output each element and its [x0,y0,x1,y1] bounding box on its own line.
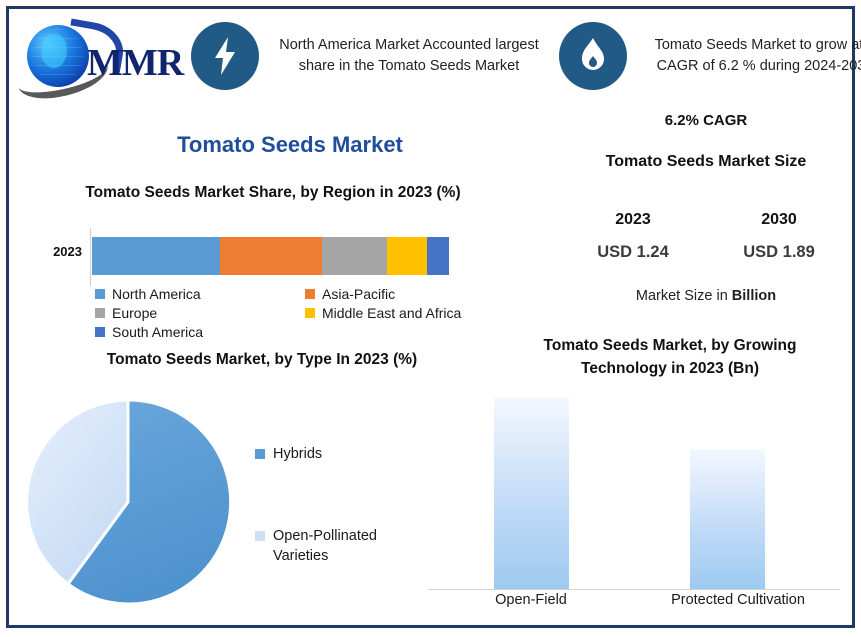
legend-label: Asia-Pacific [322,286,395,302]
legend-label: Hybrids [273,444,322,464]
legend-swatch-icon [95,308,105,318]
type-legend: Hybrids Open-Pollinated Varieties [255,444,430,566]
technology-chart-title: Tomato Seeds Market, by Growing Technolo… [500,334,840,380]
bar-open-field [494,398,569,589]
legend-swatch-icon [95,327,105,337]
technology-plot-area [428,388,840,590]
stack-segment-north-america [92,237,220,275]
lightning-bolt-icon [191,22,259,90]
market-size-footnote: Market Size in Billion [560,288,852,304]
axis-label-open-field: Open-Field [446,592,616,608]
bar-protected-cultivation [690,449,765,589]
market-size-col-2023: 2023 USD 1.24 [560,211,706,262]
cagr-badge: 6.2% CAGR [560,112,852,129]
market-size-col-2030: 2030 USD 1.89 [706,211,852,262]
stack-segment-europe [322,237,387,275]
legend-label: Middle East and Africa [322,305,461,321]
brand-logo[interactable]: MMR [10,10,185,102]
type-share-chart [22,396,234,618]
legend-item-middle-east-africa: Middle East and Africa [305,303,515,322]
legend-swatch-icon [305,308,315,318]
stack-segment-south-america [427,237,449,275]
stack-segment-asia-pacific [220,237,322,275]
legend-swatch-icon [255,531,265,541]
region-chart-title: Tomato Seeds Market Share, by Region in … [78,182,468,204]
header-highlight-1-text: North America Market Accounted largest s… [265,35,553,77]
infographic-canvas: MMR North America Market Accounted large… [0,0,861,637]
legend-item-hybrids: Hybrids [255,444,430,464]
legend-item-open-pollinated: Open-Pollinated Varieties [255,526,430,566]
market-size-value: USD 1.24 [560,243,706,262]
market-size-value: USD 1.89 [706,243,852,262]
region-plot-area [90,228,482,286]
stack-segment-middle-east-africa [387,237,427,275]
type-chart-title: Tomato Seeds Market, by Type In 2023 (%) [78,348,446,371]
legend-label: North America [112,286,201,302]
stacked-bar [92,237,463,275]
header-bar: MMR North America Market Accounted large… [10,8,851,104]
legend-item-north-america: North America [95,284,305,303]
region-share-chart: 2023 [20,228,480,286]
legend-item-europe: Europe [95,303,305,322]
brand-name: MMR [87,41,183,85]
page-title: Tomato Seeds Market [95,132,485,158]
market-size-year: 2030 [706,211,852,229]
legend-item-asia-pacific: Asia-Pacific [305,284,515,303]
flame-icon [559,22,627,90]
axis-label-protected-cultivation: Protected Cultivation [638,592,838,608]
header-highlight-2-text: Tomato Seeds Market to grow at a CAGR of… [633,35,861,77]
growing-technology-chart: Open-Field Protected Cultivation [428,388,840,618]
market-size-values: 2023 USD 1.24 2030 USD 1.89 [560,211,852,262]
legend-swatch-icon [255,449,265,459]
legend-label: Open-Pollinated Varieties [273,526,430,566]
market-size-footnote-unit: Billion [732,288,776,304]
pie-chart [22,396,234,608]
region-axis-label: 2023 [20,244,82,259]
legend-swatch-icon [95,289,105,299]
market-size-year: 2023 [560,211,706,229]
legend-item-south-america: South America [95,322,305,341]
market-size-footnote-prefix: Market Size in [636,288,732,304]
market-size-title: Tomato Seeds Market Size [560,150,852,173]
region-legend: North America Asia-Pacific Europe Middle… [95,284,515,341]
legend-label: Europe [112,305,157,321]
legend-swatch-icon [305,289,315,299]
legend-label: South America [112,324,203,340]
